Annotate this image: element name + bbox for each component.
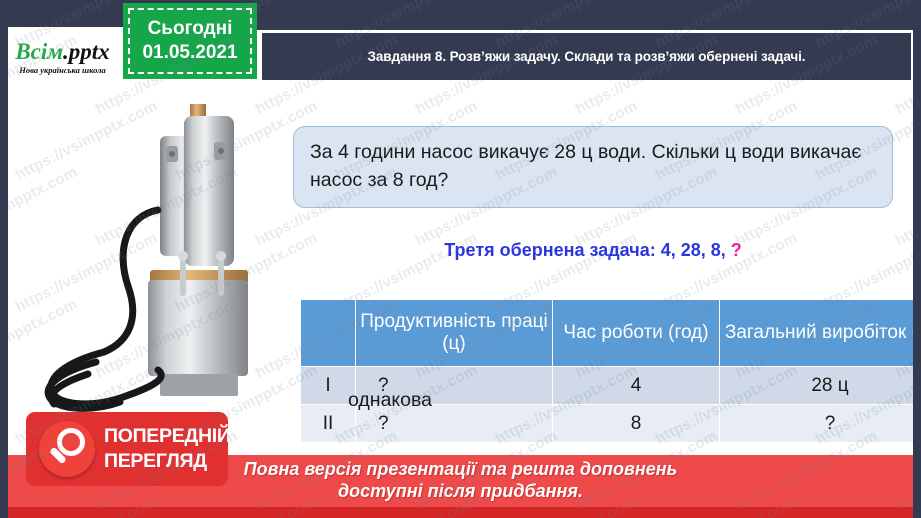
problem-box: За 4 години насос викачує 28 ц води. Скі… bbox=[293, 126, 893, 208]
bottom-banner-line1: Повна версія презентації та решта доповн… bbox=[244, 459, 678, 481]
table-header-time: Час роботи (год) bbox=[553, 300, 720, 367]
task-line-prefix: Третя обернена задача: 4, 28, 8, bbox=[444, 240, 731, 260]
data-table: Продуктивність праці (ц) Час роботи (год… bbox=[300, 299, 921, 443]
row-time: 4 bbox=[553, 367, 720, 405]
bottom-strip bbox=[0, 507, 921, 518]
pump-illustration bbox=[8, 90, 288, 430]
row-total: 28 ц bbox=[720, 367, 921, 405]
bottom-banner-line2: доступні після придбання. bbox=[338, 481, 583, 503]
table-header-productivity: Продуктивність праці (ц) bbox=[356, 300, 553, 367]
watermark-text: https://vsimpptx.com bbox=[893, 163, 921, 249]
pump-photo bbox=[8, 90, 288, 430]
preview-badge-line1: ПОПЕРЕДНІЙ bbox=[104, 424, 231, 449]
preview-badge-text: ПОПЕРЕДНІЙ ПЕРЕГЛЯД bbox=[104, 424, 231, 474]
logo-wordmark: Всім.pptx bbox=[15, 40, 109, 63]
logo-name-green: Всім bbox=[15, 39, 63, 64]
table-header-total: Загальний виробіток (ц) bbox=[720, 300, 921, 367]
problem-text: За 4 години насос викачує 28 ц води. Скі… bbox=[310, 139, 876, 194]
task-line-unknown: ? bbox=[731, 240, 742, 260]
date-badge: Сьогодні 01.05.2021 bbox=[123, 3, 257, 79]
preview-badge[interactable]: ПОПЕРЕДНІЙ ПЕРЕГЛЯД bbox=[26, 412, 228, 486]
date-badge-label: Сьогодні bbox=[148, 17, 233, 41]
row-productivity-value: ? bbox=[378, 413, 389, 435]
preview-badge-line2: ПЕРЕГЛЯД bbox=[104, 449, 231, 474]
date-badge-date: 01.05.2021 bbox=[142, 41, 237, 65]
table-header-index bbox=[301, 300, 356, 367]
logo: Всім.pptx Нова українська школа bbox=[0, 27, 125, 87]
slide: Завдання 8. Розв’яжи задачу. Склади та р… bbox=[0, 0, 921, 518]
page-title: Завдання 8. Розв’яжи задачу. Склади та р… bbox=[362, 49, 812, 64]
header-bar: Завдання 8. Розв’яжи задачу. Склади та р… bbox=[260, 31, 913, 82]
task-line: Третя обернена задача: 4, 28, 8, ? bbox=[293, 240, 893, 261]
logo-subtitle: Нова українська школа bbox=[19, 65, 105, 75]
table-header-row: Продуктивність праці (ц) Час роботи (год… bbox=[301, 300, 921, 367]
logo-name-black: .pptx bbox=[63, 39, 110, 64]
row-time: 8 bbox=[553, 405, 720, 443]
magnifier-icon bbox=[39, 421, 95, 477]
bracket-label: однакова bbox=[348, 389, 432, 412]
row-total: ? bbox=[720, 405, 921, 443]
